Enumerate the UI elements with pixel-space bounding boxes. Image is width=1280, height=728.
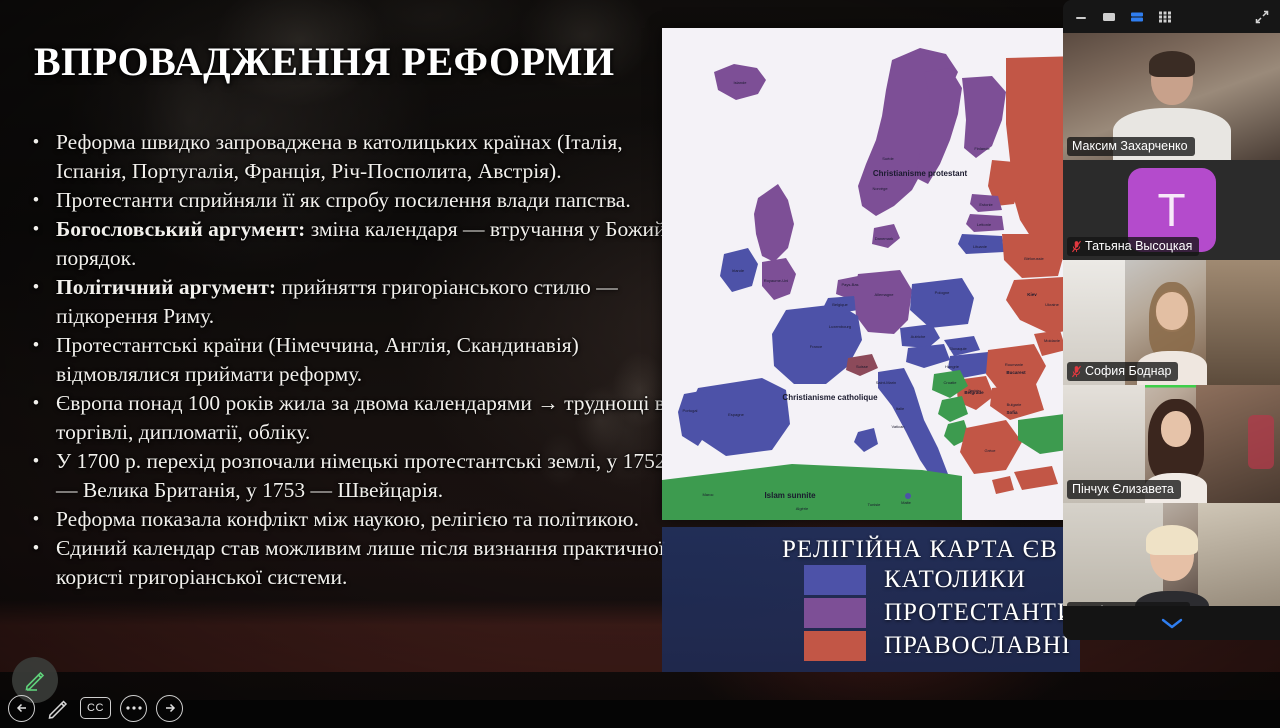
svg-text:Biélorussie: Biélorussie (1024, 256, 1044, 261)
svg-text:Lettonie: Lettonie (977, 222, 992, 227)
legend-items: КАТОЛИКИ ПРОТЕСТАНТИ ПРАВОСЛАВНІ (804, 563, 1076, 662)
svg-text:Finlande: Finlande (974, 146, 990, 151)
bullet-marker: • (30, 215, 42, 244)
bullet-item: • Реформа показала конфлікт між наукою, … (30, 505, 670, 534)
legend-swatch-orthodox (804, 631, 866, 661)
pencil-icon (23, 668, 47, 692)
bullet-text: Богословський аргумент: зміна календаря … (56, 215, 670, 273)
legend-swatch-protestants (804, 598, 866, 628)
bullet-marker: • (30, 447, 42, 476)
svg-text:Maroc: Maroc (702, 492, 713, 497)
map-label-protestant: Christianisme protestant (873, 169, 968, 178)
expand-icon[interactable] (1254, 9, 1270, 25)
bullet-body: У 1700 р. перехід розпочали німецькі про… (56, 449, 666, 502)
video-panel-collapse-bar[interactable] (1063, 606, 1280, 640)
svg-text:Suisse: Suisse (856, 364, 869, 369)
svg-text:Algérie: Algérie (796, 506, 809, 511)
svg-text:Danemark: Danemark (875, 236, 893, 241)
bullet-text: Реформа швидко запроваджена в католицьки… (56, 128, 670, 186)
split-view-icon[interactable] (1129, 9, 1145, 25)
bullet-text: У 1700 р. перехід розпочали німецькі про… (56, 447, 670, 505)
slide-toolbar: CC (4, 691, 183, 725)
participant-tile[interactable]: Пінчук Єлизавета (1063, 385, 1280, 503)
bullet-marker: • (30, 186, 42, 215)
participant-name-badge: Пінчук Єлизавета (1067, 480, 1181, 499)
svg-text:Ukraine: Ukraine (1045, 302, 1060, 307)
slide-bullet-list: • Реформа швидко запроваджена в католиць… (30, 128, 670, 592)
bullet-marker: • (30, 389, 42, 418)
svg-text:Suède: Suède (882, 156, 894, 161)
bullet-text: Політичний аргумент: прийняття григоріан… (56, 273, 670, 331)
participant-name-badge: Татьяна Высоцкая (1067, 237, 1199, 256)
back-arrow-button[interactable] (8, 695, 35, 722)
legend-label-orthodox: ПРАВОСЛАВНІ (884, 632, 1071, 660)
participant-tile[interactable]: Максим Захарченко (1063, 33, 1280, 160)
svg-text:Kiev: Kiev (1027, 292, 1037, 297)
map-label-islam: Islam sunnite (764, 491, 816, 500)
bullet-marker: • (30, 273, 42, 302)
svg-text:Sofia: Sofia (1006, 410, 1017, 415)
svg-text:Pologne: Pologne (935, 290, 950, 295)
svg-text:Belgique: Belgique (832, 302, 848, 307)
bullet-item: • Протестанти сприйняли її як спробу пос… (30, 186, 670, 215)
bullet-bold: Політичний аргумент: (56, 275, 276, 299)
muted-microphone-icon (1072, 240, 1081, 253)
bullet-item: • Реформа швидко запроваджена в католиць… (30, 128, 670, 186)
grid-view-icon[interactable] (1157, 9, 1173, 25)
svg-text:Portugal: Portugal (683, 408, 698, 413)
legend-item-orthodox: ПРАВОСЛАВНІ (804, 629, 1076, 662)
svg-text:Allemagne: Allemagne (875, 292, 895, 297)
svg-text:Estonie: Estonie (979, 202, 993, 207)
svg-text:Hongrie: Hongrie (945, 364, 960, 369)
map-svg: Christianisme protestant Christianisme c… (662, 28, 1080, 520)
svg-text:Roumanie: Roumanie (1005, 362, 1024, 367)
participant-name: Пінчук Єлизавета (1072, 482, 1174, 496)
svg-text:Bucarest: Bucarest (1006, 370, 1026, 375)
svg-text:Grèce: Grèce (985, 448, 997, 453)
bullet-item: • У 1700 р. перехід розпочали німецькі п… (30, 447, 670, 505)
bullet-marker: • (30, 534, 42, 563)
bullet-text: Протестанти сприйняли її як спробу посил… (56, 186, 670, 215)
svg-text:Malte: Malte (901, 500, 912, 505)
svg-text:France: France (810, 344, 823, 349)
bullet-marker: • (30, 331, 42, 360)
svg-text:Norvège: Norvège (872, 186, 888, 191)
svg-text:Tunisie: Tunisie (868, 502, 882, 507)
bullet-body: Єдиний календар став можливим лише після… (56, 536, 665, 589)
participant-name: Максим Захарченко (1072, 139, 1188, 153)
ellipsis-icon (125, 705, 143, 711)
bullet-item: • Єдиний календар став можливим лише піс… (30, 534, 670, 592)
arrow-left-icon (14, 700, 30, 716)
slide-title: ВПРОВАДЖЕННЯ РЕФОРМИ (34, 38, 615, 85)
cc-label: CC (87, 702, 104, 714)
closed-captions-button[interactable]: CC (80, 697, 111, 719)
muted-microphone-icon (1072, 365, 1081, 378)
svg-text:Saint-Marin: Saint-Marin (876, 380, 896, 385)
svg-text:Vatican: Vatican (891, 424, 904, 429)
video-conference-panel: Максим Захарченко Т Татьяна Высоцкая (1063, 0, 1280, 640)
legend-swatch-catholics (804, 565, 866, 595)
svg-text:Espagne: Espagne (728, 412, 745, 417)
legend-item-protestants: ПРОТЕСТАНТИ (804, 596, 1076, 629)
bullet-item: • Політичний аргумент: прийняття григорі… (30, 273, 670, 331)
svg-text:Italie: Italie (896, 406, 905, 411)
legend-label-protestants: ПРОТЕСТАНТИ (884, 599, 1076, 627)
bullet-body: Реформа показала конфлікт між наукою, ре… (56, 507, 639, 531)
bullet-marker: • (30, 128, 42, 157)
minimize-icon[interactable] (1073, 9, 1089, 25)
participant-name: Татьяна Высоцкая (1085, 239, 1192, 253)
bullet-body: Європа понад 100 років жила за двома кал… (56, 391, 665, 444)
pencil-icon (46, 696, 70, 720)
svg-text:Luxembourg: Luxembourg (829, 324, 851, 329)
svg-text:Slovaquie: Slovaquie (949, 346, 967, 351)
svg-text:Autriche: Autriche (911, 334, 926, 339)
svg-text:Lituanie: Lituanie (973, 244, 988, 249)
bullet-item: • Протестантські країни (Німеччина, Англ… (30, 331, 670, 389)
svg-text:Royaume-Uni: Royaume-Uni (764, 278, 789, 283)
participant-name: София Боднар (1085, 364, 1171, 378)
legend-title: РЕЛІГІЙНА КАРТА ЄВ (782, 536, 1058, 564)
svg-text:Moldavie: Moldavie (1044, 338, 1061, 343)
pencil-tool-button[interactable] (44, 695, 71, 722)
svg-text:Pays-Bas: Pays-Bas (841, 282, 858, 287)
bullet-bold: Богословський аргумент: (56, 217, 305, 241)
svg-text:Croatie: Croatie (944, 380, 958, 385)
bullet-marker: • (30, 505, 42, 534)
map-label-catholic: Christianisme catholique (782, 393, 878, 402)
bullet-text: Єдиний календар став можливим лише після… (56, 534, 670, 592)
legend-item-catholics: КАТОЛИКИ (804, 563, 1076, 596)
forward-arrow-button[interactable] (156, 695, 183, 722)
bullet-item: • Європа понад 100 років жила за двома к… (30, 389, 670, 447)
chevron-down-icon (1159, 616, 1185, 630)
svg-text:Irlande: Irlande (732, 268, 745, 273)
svg-text:Bulgarie: Bulgarie (1007, 402, 1022, 407)
bullet-text: Реформа показала конфлікт між наукою, ре… (56, 505, 670, 534)
bullet-text: Протестантські країни (Німеччина, Англія… (56, 331, 670, 389)
bullet-item: • Богословський аргумент: зміна календар… (30, 215, 670, 273)
bullet-text: Європа понад 100 років жила за двома кал… (56, 389, 670, 447)
legend-label-catholics: КАТОЛИКИ (884, 566, 1026, 594)
screen-root: ВПРОВАДЖЕННЯ РЕФОРМИ • Реформа швидко за… (0, 0, 1280, 728)
svg-text:Islande: Islande (734, 80, 748, 85)
single-view-icon[interactable] (1101, 9, 1117, 25)
more-options-button[interactable] (120, 695, 147, 722)
participant-tile[interactable]: Т Татьяна Высоцкая (1063, 160, 1280, 260)
bullet-body: Протестантські країни (Німеччина, Англія… (56, 333, 579, 386)
participant-tile[interactable]: София Боднар (1063, 260, 1280, 385)
svg-text:Belgrade: Belgrade (964, 390, 984, 395)
video-panel-header (1063, 0, 1280, 33)
participant-name-badge: София Боднар (1067, 362, 1178, 381)
bullet-body: Протестанти сприйняли її як спробу посил… (56, 188, 631, 212)
religious-map-of-europe: Christianisme protestant Christianisme c… (662, 28, 1080, 520)
bullet-body: Реформа швидко запроваджена в католицьки… (56, 130, 623, 183)
participant-name-badge: Максим Захарченко (1067, 137, 1195, 156)
arrow-right-icon (162, 700, 178, 716)
